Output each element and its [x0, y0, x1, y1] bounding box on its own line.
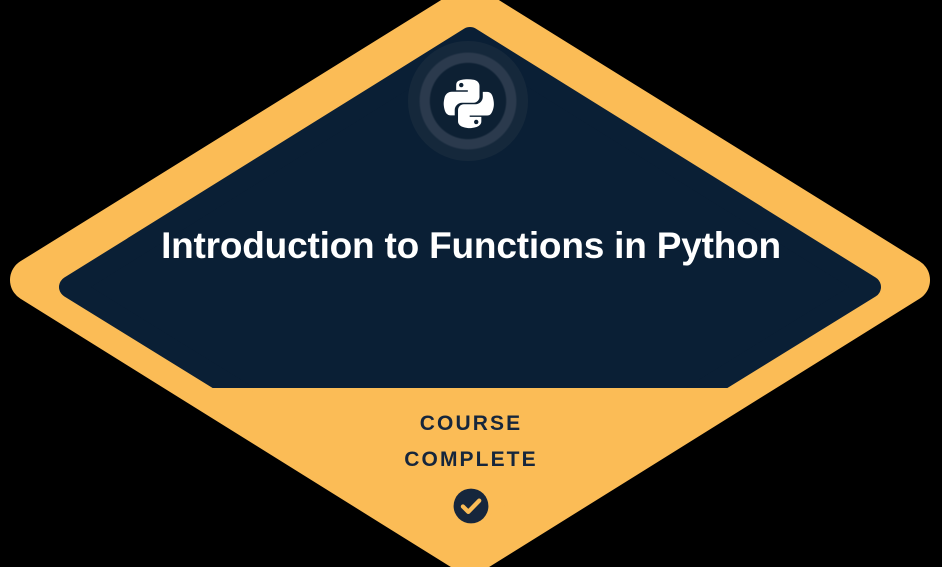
- badge-canvas: Introduction to Functions in Python COUR…: [0, 0, 942, 567]
- badge-diamond-shape: [0, 0, 942, 567]
